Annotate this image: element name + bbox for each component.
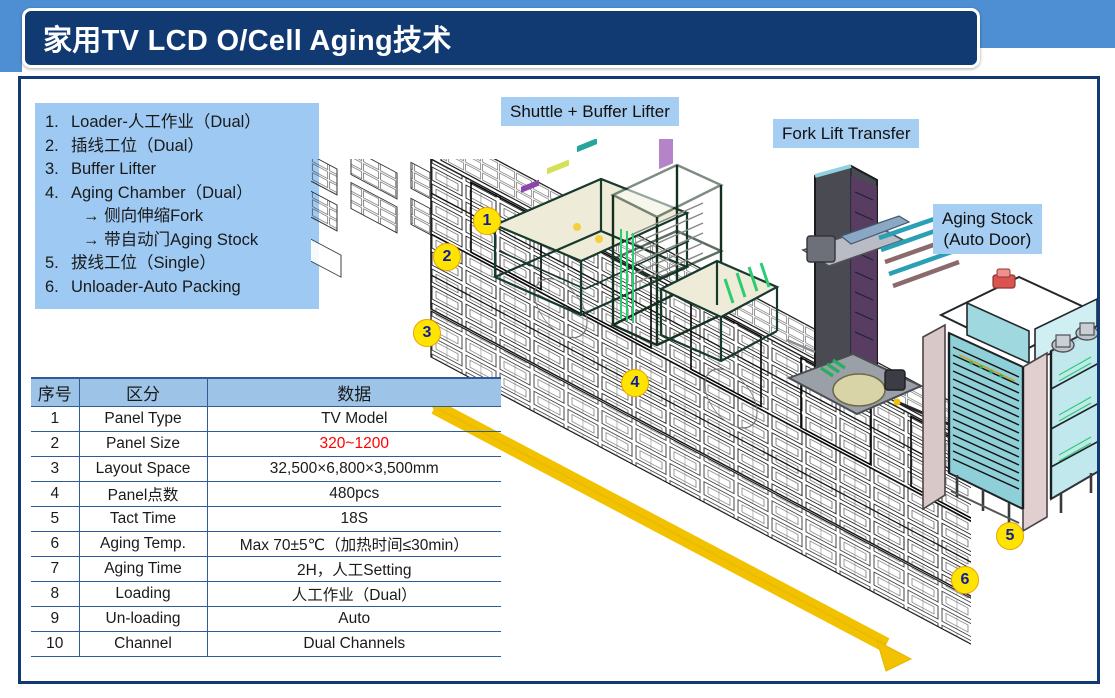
shuttle-buffer-lifter-render: [481, 139, 781, 364]
cell-item: Layout Space: [79, 456, 207, 481]
label-fork-lift-transfer: Fork Lift Transfer: [773, 119, 919, 148]
list-item-number: 6.: [45, 276, 71, 300]
list-item-label: 插线工位（Dual）: [71, 135, 204, 159]
table-row: 1 Panel Type TV Model: [31, 406, 501, 431]
cell-data: Max 70±5℃（加热时间≤30min）: [207, 531, 501, 556]
cell-item: Un-loading: [79, 606, 207, 631]
label-aging-stock: Aging Stock (Auto Door): [933, 204, 1042, 254]
cell-item: Loading: [79, 581, 207, 606]
table-row: 3 Layout Space 32,500×6,800×3,500mm: [31, 456, 501, 481]
cell-data: 18S: [207, 506, 501, 531]
cell-data: Dual Channels: [207, 631, 501, 656]
label-aging-stock-line2: (Auto Door): [942, 229, 1033, 250]
column-header-data: 数据: [207, 378, 501, 406]
label-aging-stock-line1: Aging Stock: [942, 208, 1033, 229]
list-sub-item: → 带自动门Aging Stock: [45, 229, 311, 253]
cell-data: 320~1200: [207, 431, 501, 456]
list-item-label: Aging Chamber（Dual）: [71, 182, 253, 206]
list-item-number: 1.: [45, 111, 71, 135]
cell-no: 2: [31, 431, 79, 456]
list-item-label: 拔线工位（Single）: [71, 252, 216, 276]
cell-no: 1: [31, 406, 79, 431]
column-header-no: 序号: [31, 378, 79, 406]
cell-item: Panel Size: [79, 431, 207, 456]
cell-data: Auto: [207, 606, 501, 631]
cell-item: Panel点数: [79, 481, 207, 506]
aging-stock-render: [911, 259, 1100, 539]
table-row: 10 Channel Dual Channels: [31, 631, 501, 656]
cell-no: 10: [31, 631, 79, 656]
list-item-label: Unloader-Auto Packing: [71, 276, 241, 300]
callout-badge-5[interactable]: 5: [996, 522, 1024, 550]
list-item-label: Loader-人工作业（Dual）: [71, 111, 261, 135]
column-header-item: 区分: [79, 378, 207, 406]
cell-data: 人工作业（Dual）: [207, 581, 501, 606]
table-row: 9 Un-loading Auto: [31, 606, 501, 631]
table-row: 8 Loading 人工作业（Dual）: [31, 581, 501, 606]
list-item: 3. Buffer Lifter: [45, 158, 311, 182]
list-item: 2. 插线工位（Dual）: [45, 135, 311, 159]
cell-item: Aging Time: [79, 556, 207, 581]
cell-no: 4: [31, 481, 79, 506]
cell-item: Panel Type: [79, 406, 207, 431]
cell-item: Tact Time: [79, 506, 207, 531]
list-item-number: 5.: [45, 252, 71, 276]
cell-no: 8: [31, 581, 79, 606]
cell-no: 6: [31, 531, 79, 556]
callout-badge-6[interactable]: 6: [951, 566, 979, 594]
label-shuttle-buffer-lifter: Shuttle + Buffer Lifter: [501, 97, 679, 126]
table-row: 4 Panel点数 480pcs: [31, 481, 501, 506]
callout-badge-3[interactable]: 3: [413, 319, 441, 347]
list-item: 6. Unloader-Auto Packing: [45, 276, 311, 300]
callout-badge-4[interactable]: 4: [621, 369, 649, 397]
cell-no: 5: [31, 506, 79, 531]
list-item-number: 2.: [45, 135, 71, 159]
table-header-row: 序号 区分 数据: [31, 378, 501, 406]
process-list: 1. Loader-人工作业（Dual） 2. 插线工位（Dual） 3. Bu…: [35, 103, 319, 309]
cell-data: 480pcs: [207, 481, 501, 506]
table-row: 5 Tact Time 18S: [31, 506, 501, 531]
slide-canvas: 家用TV LCD O/Cell Aging技术 1. Loader-人工作业（D…: [0, 0, 1115, 698]
cell-item: Aging Temp.: [79, 531, 207, 556]
cell-no: 7: [31, 556, 79, 581]
callout-badge-1[interactable]: 1: [473, 207, 501, 235]
cell-no: 3: [31, 456, 79, 481]
slide-content-frame: 1. Loader-人工作业（Dual） 2. 插线工位（Dual） 3. Bu…: [18, 76, 1100, 684]
table-row: 2 Panel Size 320~1200: [31, 431, 501, 456]
table-row: 7 Aging Time 2H，人工Setting: [31, 556, 501, 581]
left-accent-band: [0, 0, 22, 72]
cell-data: TV Model: [207, 406, 501, 431]
cell-item: Channel: [79, 631, 207, 656]
cell-no: 9: [31, 606, 79, 631]
list-sub-item: → 侧向伸缩Fork: [45, 205, 311, 229]
list-item-number: 4.: [45, 182, 71, 206]
cell-data: 2H，人工Setting: [207, 556, 501, 581]
list-item: 5. 拔线工位（Single）: [45, 252, 311, 276]
list-item-number: 3.: [45, 158, 71, 182]
page-title: 家用TV LCD O/Cell Aging技术: [25, 17, 452, 59]
slide-title-bar: 家用TV LCD O/Cell Aging技术: [22, 8, 980, 68]
list-item: 1. Loader-人工作业（Dual）: [45, 111, 311, 135]
list-item: 4. Aging Chamber（Dual）: [45, 182, 311, 206]
callout-badge-2[interactable]: 2: [433, 243, 461, 271]
list-item-label: Buffer Lifter: [71, 158, 156, 182]
spec-table: 序号 区分 数据 1 Panel Type TV Model 2 Panel S…: [31, 377, 501, 657]
table-row: 6 Aging Temp. Max 70±5℃（加热时间≤30min）: [31, 531, 501, 556]
cell-data: 32,500×6,800×3,500mm: [207, 456, 501, 481]
